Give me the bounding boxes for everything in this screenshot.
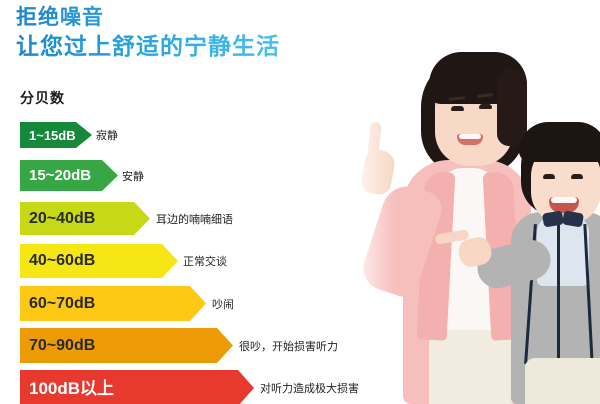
decibel-range-label: 60~70dB	[29, 296, 95, 312]
decibel-bar: 1~15dB	[20, 122, 92, 148]
decibel-row: 20~40dB耳边的喃喃细语	[0, 202, 360, 242]
decibel-range-label: 1~15dB	[29, 129, 76, 142]
child-trousers	[525, 358, 600, 404]
decibel-bar: 15~20dB	[20, 160, 118, 191]
decibel-row: 1~15dB寂静	[0, 122, 360, 155]
decibel-description: 很吵，开始损害听力	[239, 328, 338, 363]
decibel-description: 吵闹	[212, 286, 234, 321]
headline-line-1: 拒绝噪音	[16, 5, 280, 32]
decibel-bar: 70~90dB	[20, 328, 233, 363]
child-teeth	[551, 197, 577, 203]
decibel-description: 安静	[122, 160, 144, 191]
photo-woman-and-child	[325, 0, 600, 404]
decibel-description: 耳边的喃喃细语	[156, 202, 233, 235]
decibel-bar: 60~70dB	[20, 286, 206, 321]
decibel-row: 70~90dB很吵，开始损害听力	[0, 328, 360, 370]
headline-line-2: 让您过上舒适的宁静生活	[16, 32, 280, 61]
decibel-description: 寂静	[96, 122, 118, 148]
decibel-row: 15~20dB安静	[0, 160, 360, 198]
decibel-range-label: 20~40dB	[29, 211, 95, 227]
headline: 拒绝噪音 让您过上舒适的宁静生活	[16, 5, 280, 61]
child-eye-right	[571, 174, 583, 179]
decibel-bar: 40~60dB	[20, 244, 178, 278]
decibel-row: 40~60dB正常交谈	[0, 244, 360, 285]
decibel-bar: 20~40dB	[20, 202, 150, 235]
decibel-bar: 100dB以上	[20, 370, 254, 404]
decibel-range-label: 70~90dB	[29, 338, 95, 354]
decibel-range-label: 100dB以上	[29, 380, 114, 397]
decibel-range-label: 15~20dB	[29, 168, 91, 183]
decibel-description: 正常交谈	[183, 244, 227, 278]
woman-trousers	[429, 330, 513, 404]
decibel-range-label: 40~60dB	[29, 253, 95, 269]
child-eye-left	[543, 174, 555, 179]
woman-eye-right	[479, 104, 492, 109]
noise-level-poster: 拒绝噪音 让您过上舒适的宁静生活	[0, 0, 600, 404]
chart-title: 分贝数	[20, 88, 65, 108]
child-cardigan-placket	[557, 222, 560, 372]
decibel-row: 60~70dB吵闹	[0, 286, 360, 328]
decibel-row: 100dB以上对听力造成极大损害	[0, 370, 360, 404]
woman-eye-left	[451, 106, 464, 111]
woman-teeth	[459, 134, 481, 139]
child-hair-fringe	[519, 122, 600, 162]
decibel-description: 对听力造成极大损害	[260, 370, 359, 404]
woman-hair-side	[497, 68, 527, 146]
